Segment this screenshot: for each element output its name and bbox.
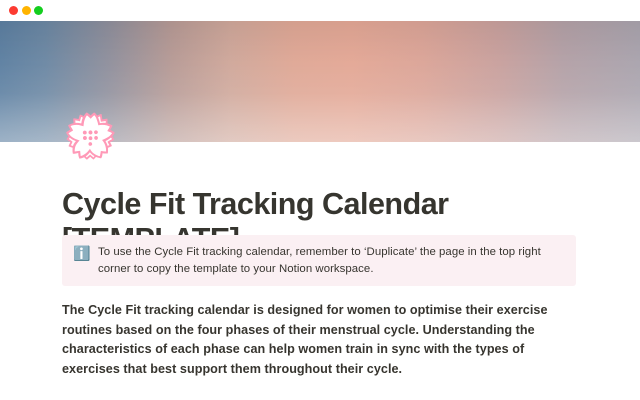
- app-window: 💮 Cycle Fit Tracking Calendar [TEMPLATE]…: [0, 0, 640, 400]
- close-window-button[interactable]: [9, 6, 18, 15]
- minimize-window-button[interactable]: [22, 6, 31, 15]
- page-content: 💮 Cycle Fit Tracking Calendar [TEMPLATE]…: [0, 21, 640, 400]
- maximize-window-button[interactable]: [34, 6, 43, 15]
- window-titlebar: [0, 0, 640, 21]
- callout-block[interactable]: ℹ️ To use the Cycle Fit tracking calenda…: [62, 235, 576, 286]
- information-emoji-icon: ℹ️: [73, 245, 89, 261]
- intro-paragraph[interactable]: The Cycle Fit tracking calendar is desig…: [62, 301, 574, 379]
- page-icon[interactable]: 💮: [63, 111, 115, 163]
- callout-text: To use the Cycle Fit tracking calendar, …: [98, 244, 564, 277]
